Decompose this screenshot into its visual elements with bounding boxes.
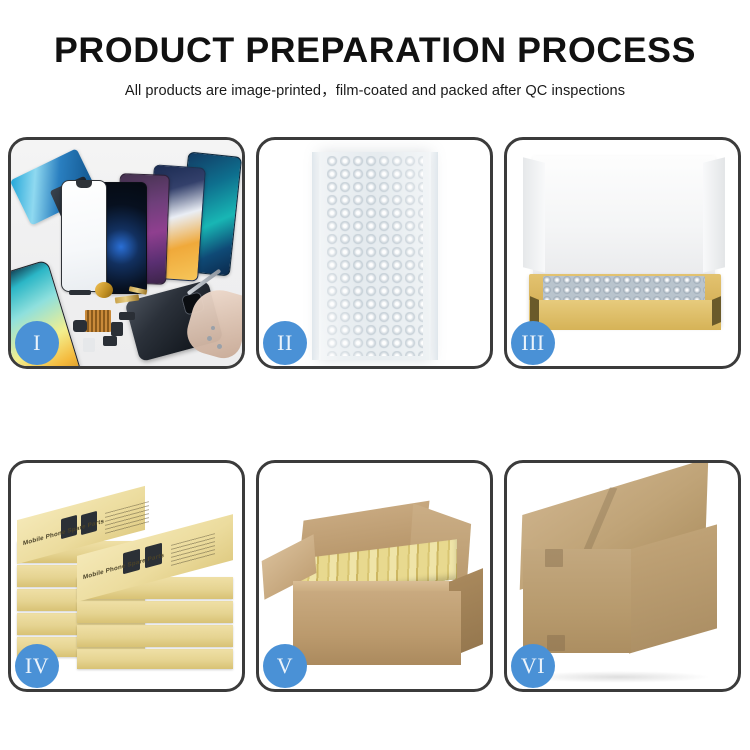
step-badge-2: II <box>263 321 307 365</box>
step-badge-5: V <box>263 644 307 688</box>
speaker-part-image <box>95 282 113 298</box>
step-panel-6[interactable]: VI <box>504 460 741 692</box>
step-panel-3[interactable]: III <box>504 137 741 369</box>
carton-front-panel <box>293 591 461 665</box>
process-steps-grid: I II III <box>8 137 742 692</box>
tray-tab-right <box>712 296 721 326</box>
logic-board-image <box>85 310 111 332</box>
step-panel-4[interactable]: Mobile Phone Spare Parts Mobile Phone Sp… <box>8 460 245 692</box>
kraft-tray-front-image <box>529 300 721 330</box>
stacked-box-r3 <box>77 601 233 623</box>
page-subtitle: All products are image-printed，film-coat… <box>0 79 750 100</box>
step-panel-2[interactable]: II <box>256 137 493 369</box>
bubble-wrap-sleeve-image <box>319 152 431 360</box>
step-badge-6: VI <box>511 644 555 688</box>
sealed-carton-tab-bottom <box>547 635 565 651</box>
bracket-part-image <box>119 312 135 320</box>
step-badge-1: I <box>15 321 59 365</box>
white-lid-image <box>533 156 715 282</box>
stacked-box-r5 <box>77 649 233 669</box>
screw-a-image <box>207 336 212 341</box>
page-title: PRODUCT PREPARATION PROCESS <box>0 31 750 70</box>
screw-c-image <box>211 326 215 330</box>
sleeve-edge-right <box>429 152 438 360</box>
sealed-carton-tab-top <box>545 549 563 567</box>
screw-b-image <box>217 344 222 349</box>
step-badge-3: III <box>511 321 555 365</box>
button-part-image <box>103 336 117 346</box>
step-panel-5[interactable]: V <box>256 460 493 692</box>
sealed-carton-front <box>523 549 631 653</box>
step-panel-1[interactable]: I <box>8 137 245 369</box>
camera-part-image <box>73 320 87 332</box>
sim-tray-image <box>83 338 95 352</box>
page-header: PRODUCT PREPARATION PROCESS All products… <box>0 0 750 100</box>
step-badge-4: IV <box>15 644 59 688</box>
stacked-box-r4 <box>77 625 233 647</box>
screen-protector-image <box>61 180 107 292</box>
battery-part-image <box>111 322 123 336</box>
sleeve-edge-left <box>312 152 321 360</box>
connector-part-image <box>69 290 91 295</box>
